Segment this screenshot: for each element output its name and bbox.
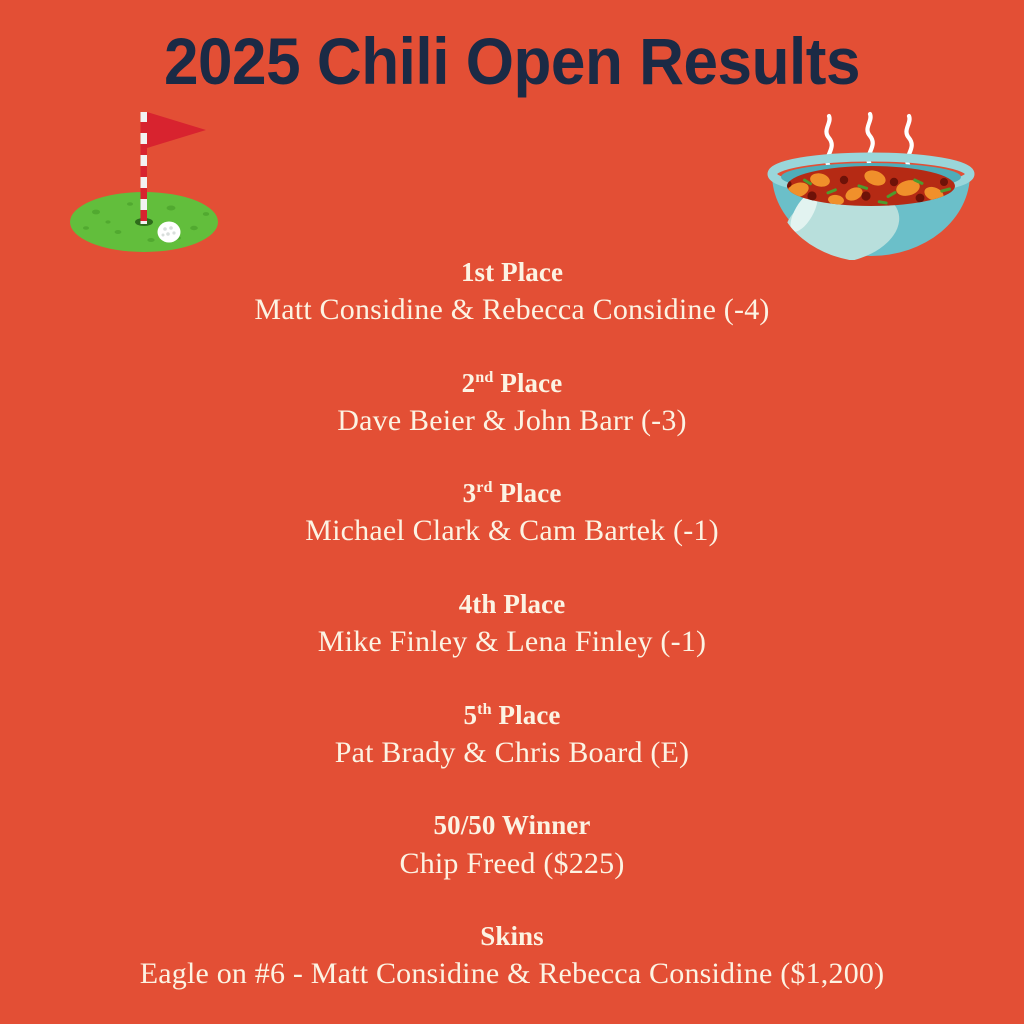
result-value: Pat Brady & Chris Board (E) — [0, 733, 1024, 773]
result-entry: 3rd Place Michael Clark & Cam Bartek (-1… — [0, 476, 1024, 551]
result-value: Matt Considine & Rebecca Considine (-4) — [0, 290, 1024, 330]
result-entry: 1st Place Matt Considine & Rebecca Consi… — [0, 255, 1024, 330]
result-entry-5050-winner: 50/50 Winner Chip Freed ($225) — [0, 808, 1024, 883]
result-label: 4th Place — [0, 587, 1024, 622]
steaming-chili-bowl-icon — [758, 108, 984, 260]
ordinal-suffix: rd — [476, 478, 492, 496]
result-entry: 4th Place Mike Finley & Lena Finley (-1) — [0, 587, 1024, 662]
result-entry: 5th Place Pat Brady & Chris Board (E) — [0, 698, 1024, 773]
result-entry: 2nd Place Dave Beier & John Barr (-3) — [0, 366, 1024, 441]
result-value: Michael Clark & Cam Bartek (-1) — [0, 511, 1024, 551]
result-value: Dave Beier & John Barr (-3) — [0, 401, 1024, 441]
result-label: 2nd Place — [0, 366, 1024, 401]
result-entry-skins: Skins Eagle on #6 - Matt Considine & Reb… — [0, 919, 1024, 994]
result-value: Mike Finley & Lena Finley (-1) — [0, 622, 1024, 662]
result-label: Skins — [0, 919, 1024, 954]
result-label: 50/50 Winner — [0, 808, 1024, 843]
ordinal-suffix: th — [477, 700, 492, 718]
result-label: 1st Place — [0, 255, 1024, 290]
results-poster: 2025 Chili Open Results — [0, 0, 1024, 1024]
golf-green-with-flag-icon — [56, 100, 242, 258]
result-value: Chip Freed ($225) — [0, 844, 1024, 884]
ordinal-suffix: nd — [475, 368, 493, 386]
results-list: 1st Place Matt Considine & Rebecca Consi… — [0, 255, 1024, 994]
result-label: 5th Place — [0, 698, 1024, 733]
result-label: 3rd Place — [0, 476, 1024, 511]
result-value: Eagle on #6 - Matt Considine & Rebecca C… — [0, 954, 1024, 994]
page-title: 2025 Chili Open Results — [31, 28, 994, 94]
